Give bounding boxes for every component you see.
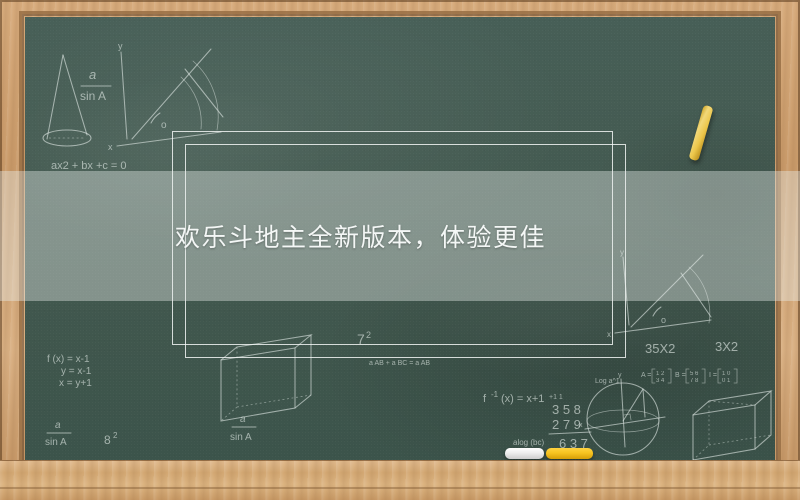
page-title: 欢乐斗地主全新版本，体验更佳 [175,218,546,254]
svg-text:2: 2 [113,431,118,440]
svg-text:8: 8 [104,433,111,447]
svg-text:y = x-1: y = x-1 [61,366,92,377]
svg-text:B =: B = [675,372,686,379]
chalk-stick-white-tray [505,448,544,459]
svg-text:1 2: 1 2 [656,371,665,377]
svg-text:y: y [618,372,622,379]
chalk-log-expression: alog (bc) [513,438,544,447]
svg-text:f: f [483,393,487,405]
svg-text:3 5 8: 3 5 8 [552,402,581,417]
svg-text:sin A: sin A [45,437,67,448]
svg-text:3 4: 3 4 [656,378,665,384]
svg-text:+1 1: +1 1 [549,394,563,401]
svg-text:0 1: 0 1 [722,378,731,384]
chalk-inverse-function: f -1 (x) = x+1 [483,390,544,405]
svg-text:a: a [89,67,96,82]
svg-text:-1: -1 [491,390,499,399]
svg-text:1 0: 1 0 [722,371,731,377]
chalk-matrices-row: A = 1 2 3 4 B = 5 6 7 8 I = 1 0 0 1 [641,369,737,384]
chalk-label-35x2: 35X2 [645,341,675,356]
chalk-subtraction-problem: +1 1 3 5 8 2 7 9 6 3 7 [549,394,591,451]
chalk-fraction-a-over-sinA-bottomleft: a sin A [45,420,71,448]
svg-text:5 6: 5 6 [690,371,699,377]
ledge-lip-shadow [0,487,800,489]
svg-text:o: o [161,120,167,131]
svg-text:x: x [108,142,113,152]
screenshot-root: a sin A y x o ax2 + bx +c = 0 [0,0,800,500]
svg-text:(x) = x+1: (x) = x+1 [501,393,544,405]
chalk-function-equations: f (x) = x-1 y = x-1 x = y+1 [47,354,92,389]
svg-text:x = y+1: x = y+1 [59,378,92,389]
svg-text:I =: I = [709,372,717,379]
chalk-cube-right [693,391,771,460]
chalk-tray-ledge [0,460,800,500]
svg-text:7 8: 7 8 [690,378,699,384]
svg-text:y: y [118,41,123,51]
svg-text:o: o [661,315,666,325]
chalk-fraction-a-over-sinA-topleft: a sin A [80,67,111,103]
svg-text:sin A: sin A [230,432,252,443]
svg-text:a: a [240,414,246,425]
svg-text:A =: A = [641,372,651,379]
svg-text:f (x) = x-1: f (x) = x-1 [47,354,90,365]
title-container: 欢乐斗地主全新版本，体验更佳 [0,171,800,301]
chalk-vector-sum-expression: a AB + a BC = a AB [369,360,430,367]
chalk-stick-yellow-tray [546,448,593,459]
svg-text:a: a [55,420,61,431]
svg-text:2 7 9: 2 7 9 [552,417,581,432]
chalk-exponent-eight-squared: 8 2 [104,431,118,447]
chalk-circle-axes-right: y x [579,372,665,455]
chalk-label-3x2: 3X2 [715,339,738,354]
svg-text:sin A: sin A [80,89,106,103]
